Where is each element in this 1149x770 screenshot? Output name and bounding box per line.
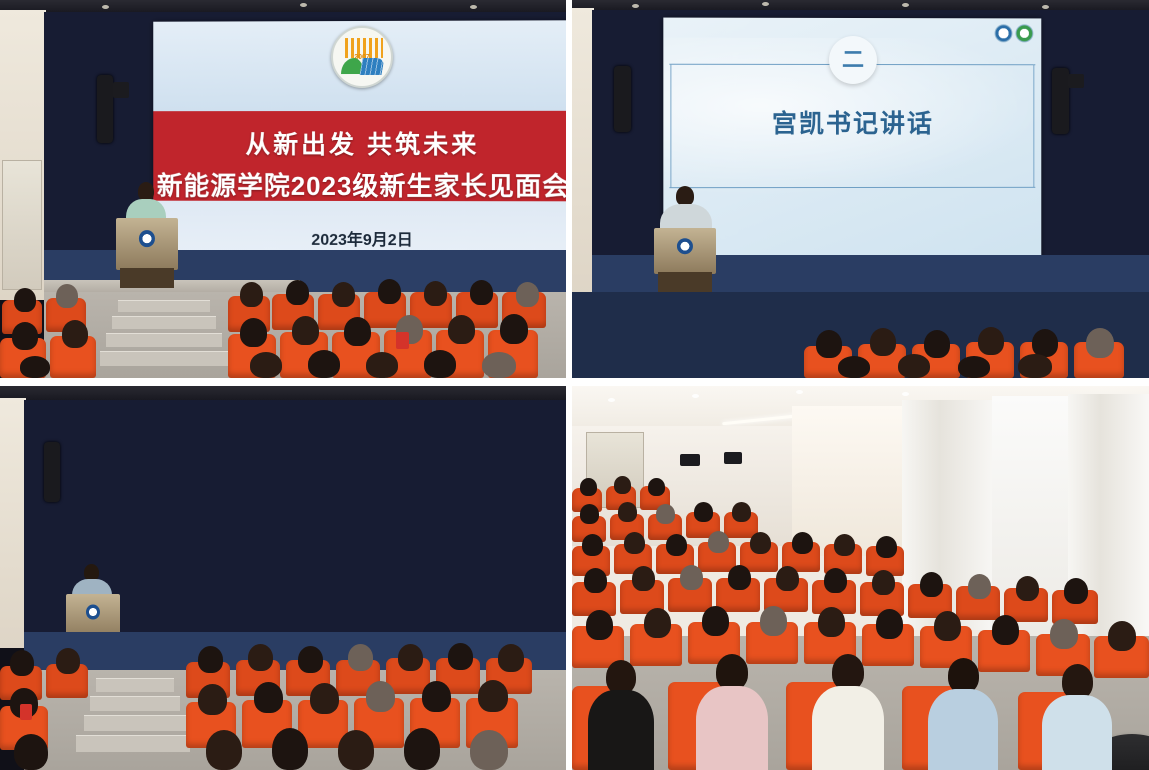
photo-collage: 2007 从新出发 共筑未来 新能源学院2023级新生家长见面会 2023年9月…	[0, 0, 1149, 770]
attendee	[928, 658, 998, 770]
presentation-screen-opening: 2007 从新出发 共筑未来 新能源学院2023级新生家长见面会 2023年9月…	[153, 20, 566, 271]
section-number: 二	[842, 49, 864, 71]
university-crest-icon	[139, 230, 155, 248]
stair-step	[106, 333, 222, 347]
side-wall	[0, 398, 26, 648]
university-crest-icon	[86, 604, 100, 619]
collage-gutter-horizontal	[0, 378, 1149, 386]
photo-panel-bottom-right	[572, 386, 1149, 770]
door	[2, 160, 42, 290]
phone-screen	[20, 704, 32, 720]
side-wall	[572, 8, 594, 298]
attendee	[1042, 664, 1112, 770]
attendee	[696, 654, 768, 770]
ceiling-light	[102, 5, 109, 9]
slide-logos	[995, 24, 1034, 42]
attendee	[588, 660, 654, 770]
stair-step	[118, 300, 210, 312]
ceiling-light	[470, 5, 477, 9]
podium-base	[658, 272, 713, 292]
presenter-head	[676, 186, 694, 206]
camera	[113, 82, 129, 98]
camera	[1068, 74, 1084, 88]
stair-step	[112, 316, 216, 329]
presentation-screen-section: 二 宫凯书记讲话	[663, 18, 1041, 261]
podium-base	[120, 268, 175, 288]
school-logo-icon	[1015, 24, 1033, 42]
solar-panel-icon	[360, 58, 385, 75]
wall-speaker	[97, 75, 113, 143]
section-number-badge: 二	[829, 36, 877, 84]
attendee	[812, 654, 884, 770]
stair-step	[100, 351, 228, 366]
photo-panel-bottom-left: 创新发展 校长奖学金3人,本硕博就业落实率90% 新能源材料与器件专业全校第一9…	[0, 386, 566, 770]
school-logo-icon: 2007	[331, 26, 393, 88]
photo-panel-top-right: 二 宫凯书记讲话	[572, 0, 1149, 378]
slide-date: 2023年9月2日	[153, 226, 566, 251]
slide-title-line2: 新能源学院2023级新生家长见面会	[153, 166, 566, 203]
podium	[116, 218, 178, 270]
slide-title-line1: 从新出发 共筑未来	[153, 125, 566, 161]
wall-speaker	[614, 66, 631, 132]
university-logo-icon	[995, 24, 1013, 42]
university-crest-icon	[677, 239, 693, 255]
ceiling-light	[300, 3, 307, 7]
podium	[654, 228, 716, 274]
wall-speaker	[44, 442, 60, 502]
wall-speaker	[1052, 68, 1069, 134]
photo-panel-top-left: 2007 从新出发 共筑未来 新能源学院2023级新生家长见面会 2023年9月…	[0, 0, 566, 378]
slide-heading: 宫凯书记讲话	[663, 104, 1041, 140]
camera	[724, 452, 742, 464]
camera	[680, 454, 700, 466]
phone-screen	[396, 332, 409, 349]
